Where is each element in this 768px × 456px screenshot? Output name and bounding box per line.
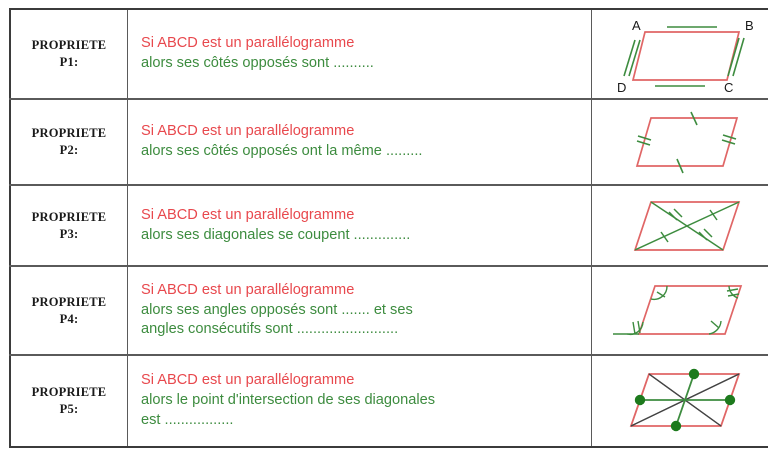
property-label-line2: P1: xyxy=(11,54,127,71)
property-figure-cell-p4 xyxy=(592,266,768,354)
property-figure-cell-p2 xyxy=(592,99,768,185)
table-row: PROPRIETE P4: Si ABCD est un parallélogr… xyxy=(10,266,768,354)
parallelogram-diagonals-bisect-figure xyxy=(592,190,768,262)
tick-diagonal-ac-lower-b xyxy=(704,229,712,237)
symmetry-point-top xyxy=(689,369,699,379)
property-label-line2: P3: xyxy=(11,226,127,243)
symmetry-point-left xyxy=(635,395,645,405)
hypothesis-text: Si ABCD est un parallélogramme xyxy=(141,206,581,226)
vertex-label-b: B xyxy=(745,18,754,33)
conclusion-text-line-2: angles consécutifs sont ................… xyxy=(141,320,581,340)
property-label-cell-p5: PROPRIETE P5: xyxy=(10,355,128,447)
vertex-label-d: D xyxy=(617,80,626,94)
figure-svg-p5 xyxy=(599,360,768,442)
parallel-mark-left-b xyxy=(624,40,635,76)
tick-diagonal-ac-lower-a xyxy=(699,232,707,240)
diagonal-bd xyxy=(635,202,739,250)
table-row: PROPRIETE P3: Si ABCD est un parallélogr… xyxy=(10,185,768,266)
property-statement-cell-p1: Si ABCD est un parallélogramme alors ses… xyxy=(128,9,592,99)
worksheet-page: PROPRIETE P1: Si ABCD est un parallélogr… xyxy=(0,0,768,456)
property-label-line1: PROPRIETE xyxy=(32,38,107,52)
conclusion-text-line-1: alors le point d'intersection de ses dia… xyxy=(141,391,581,411)
conclusion-text-line-1: alors ses diagonales se coupent ........… xyxy=(141,226,581,246)
conclusion-text-line-1: alors ses angles opposés sont ....... et… xyxy=(141,301,581,321)
parallel-mark-right-a xyxy=(733,38,744,76)
property-label-cell-p1: PROPRIETE P1: xyxy=(10,9,128,99)
properties-table: PROPRIETE P1: Si ABCD est un parallélogr… xyxy=(9,8,768,448)
vertex-label-c: C xyxy=(724,80,733,94)
center-ray-a xyxy=(649,374,685,400)
property-label-line2: P4: xyxy=(11,311,127,328)
property-statement-cell-p4: Si ABCD est un parallélogramme alors ses… xyxy=(128,266,592,354)
angle-tick-c xyxy=(711,321,719,328)
property-statement-cell-p5: Si ABCD est un parallélogramme alors le … xyxy=(128,355,592,447)
tick-mark-right-b xyxy=(722,140,735,144)
figure-svg-p1: A B C D xyxy=(599,14,768,94)
parallelogram-shape xyxy=(633,32,739,80)
vertex-label-a: A xyxy=(632,18,641,33)
property-label-line1: PROPRIETE xyxy=(32,295,107,309)
property-label-cell-p2: PROPRIETE P2: xyxy=(10,99,128,185)
figure-svg-p3 xyxy=(599,190,768,262)
symmetry-point-right xyxy=(725,395,735,405)
property-statement-cell-p3: Si ABCD est un parallélogramme alors ses… xyxy=(128,185,592,266)
property-figure-cell-p1: A B C D xyxy=(592,9,768,99)
hypothesis-text: Si ABCD est un parallélogramme xyxy=(141,371,581,391)
table-row: PROPRIETE P5: Si ABCD est un parallélogr… xyxy=(10,355,768,447)
table-row: PROPRIETE P2: Si ABCD est un parallélogr… xyxy=(10,99,768,185)
property-label-line2: P5: xyxy=(11,401,127,418)
center-ray-c xyxy=(685,400,721,426)
table-row: PROPRIETE P1: Si ABCD est un parallélogr… xyxy=(10,9,768,99)
conclusion-text-line-1: alors ses côtés opposés ont la même ....… xyxy=(141,142,581,162)
conclusion-text-line-1: alors ses côtés opposés sont .......... xyxy=(141,54,581,74)
properties-table-body: PROPRIETE P1: Si ABCD est un parallélogr… xyxy=(10,9,768,447)
property-label-line1: PROPRIETE xyxy=(32,126,107,140)
tick-mark-right-a xyxy=(723,135,736,139)
tick-diagonal-ac-upper-b xyxy=(674,209,682,217)
parallelogram-center-of-symmetry-figure xyxy=(592,360,768,442)
property-label-line1: PROPRIETE xyxy=(32,210,107,224)
angle-tick-d-a xyxy=(633,322,635,334)
property-figure-cell-p3 xyxy=(592,185,768,266)
parallel-mark-right-b xyxy=(728,38,739,76)
figure-svg-p2 xyxy=(599,104,768,180)
symmetry-point-bottom xyxy=(671,421,681,431)
parallelogram-angle-arcs-figure xyxy=(592,272,768,350)
angle-tick-b-a xyxy=(727,289,738,291)
hypothesis-text: Si ABCD est un parallélogramme xyxy=(141,122,581,142)
property-label-line1: PROPRIETE xyxy=(32,385,107,399)
property-label-cell-p4: PROPRIETE P4: xyxy=(10,266,128,354)
property-figure-cell-p5 xyxy=(592,355,768,447)
conclusion-text-line-2: est ................. xyxy=(141,411,581,431)
parallelogram-shape xyxy=(639,286,741,334)
property-label-line2: P2: xyxy=(11,142,127,159)
hypothesis-text: Si ABCD est un parallélogramme xyxy=(141,34,581,54)
parallelogram-opposite-sides-parallel-figure: A B C D xyxy=(592,14,768,94)
tick-diagonal-ac-upper-a xyxy=(669,212,677,220)
property-statement-cell-p2: Si ABCD est un parallélogramme alors ses… xyxy=(128,99,592,185)
property-label-cell-p3: PROPRIETE P3: xyxy=(10,185,128,266)
figure-svg-p4 xyxy=(599,272,768,350)
parallelogram-shape xyxy=(637,118,737,166)
hypothesis-text: Si ABCD est un parallélogramme xyxy=(141,281,581,301)
parallelogram-equal-side-ticks-figure xyxy=(592,104,768,180)
